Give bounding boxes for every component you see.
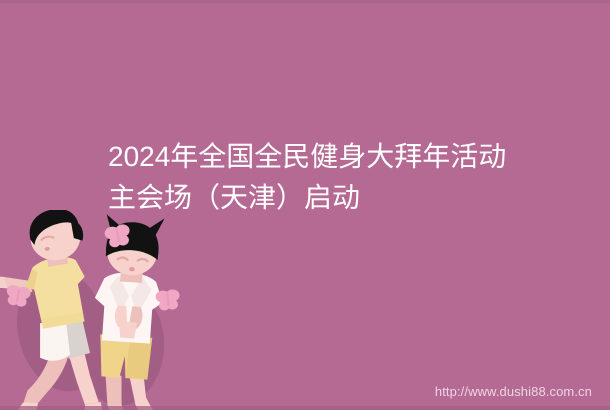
watermark-url: http://www.dushi88.com.cn xyxy=(435,384,592,399)
image-canvas: 2024年全国全民健身大拜年活动主会场（天津）启动 http://www.dus… xyxy=(0,0,610,410)
children-illustration xyxy=(0,210,200,410)
child-right-forearm xyxy=(118,321,137,338)
top-edge-band xyxy=(0,0,610,3)
headline-text: 2024年全国全民健身大拜年活动主会场（天津）启动 xyxy=(108,136,528,218)
butterfly-right-icon xyxy=(155,289,181,311)
bottom-edge-band xyxy=(0,406,610,410)
